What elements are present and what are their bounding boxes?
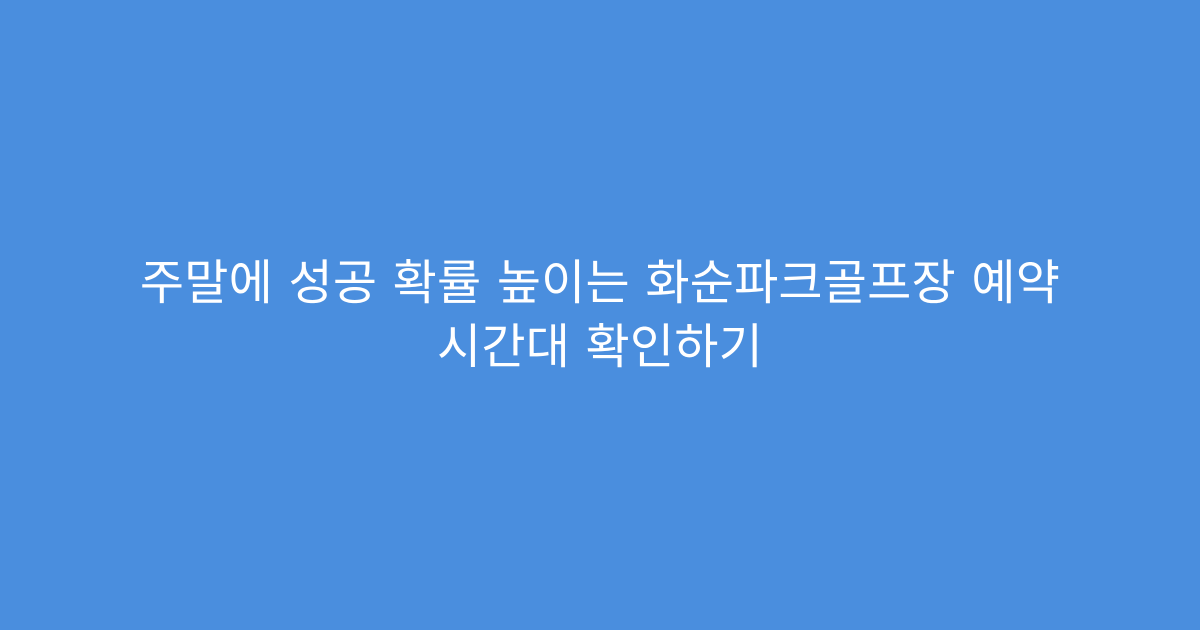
page-title: 주말에 성공 확률 높이는 화순파크골프장 예약 시간대 확인하기	[95, 251, 1105, 379]
og-image-card: 주말에 성공 확률 높이는 화순파크골프장 예약 시간대 확인하기	[0, 0, 1200, 630]
